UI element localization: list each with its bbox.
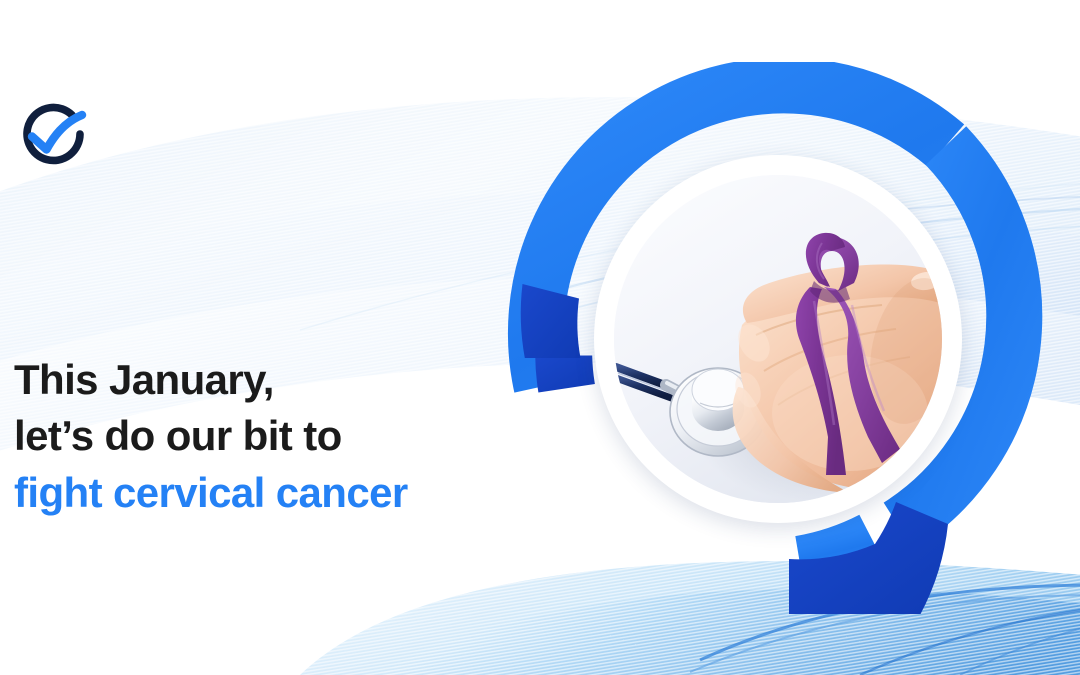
banner-canvas: This January, let’s do our bit to fight … xyxy=(0,0,1080,675)
checkmark-circle-logo[interactable] xyxy=(10,98,96,178)
hand-holding-purple-ribbon-photo xyxy=(614,175,942,503)
photo-disc-frame xyxy=(594,155,962,523)
